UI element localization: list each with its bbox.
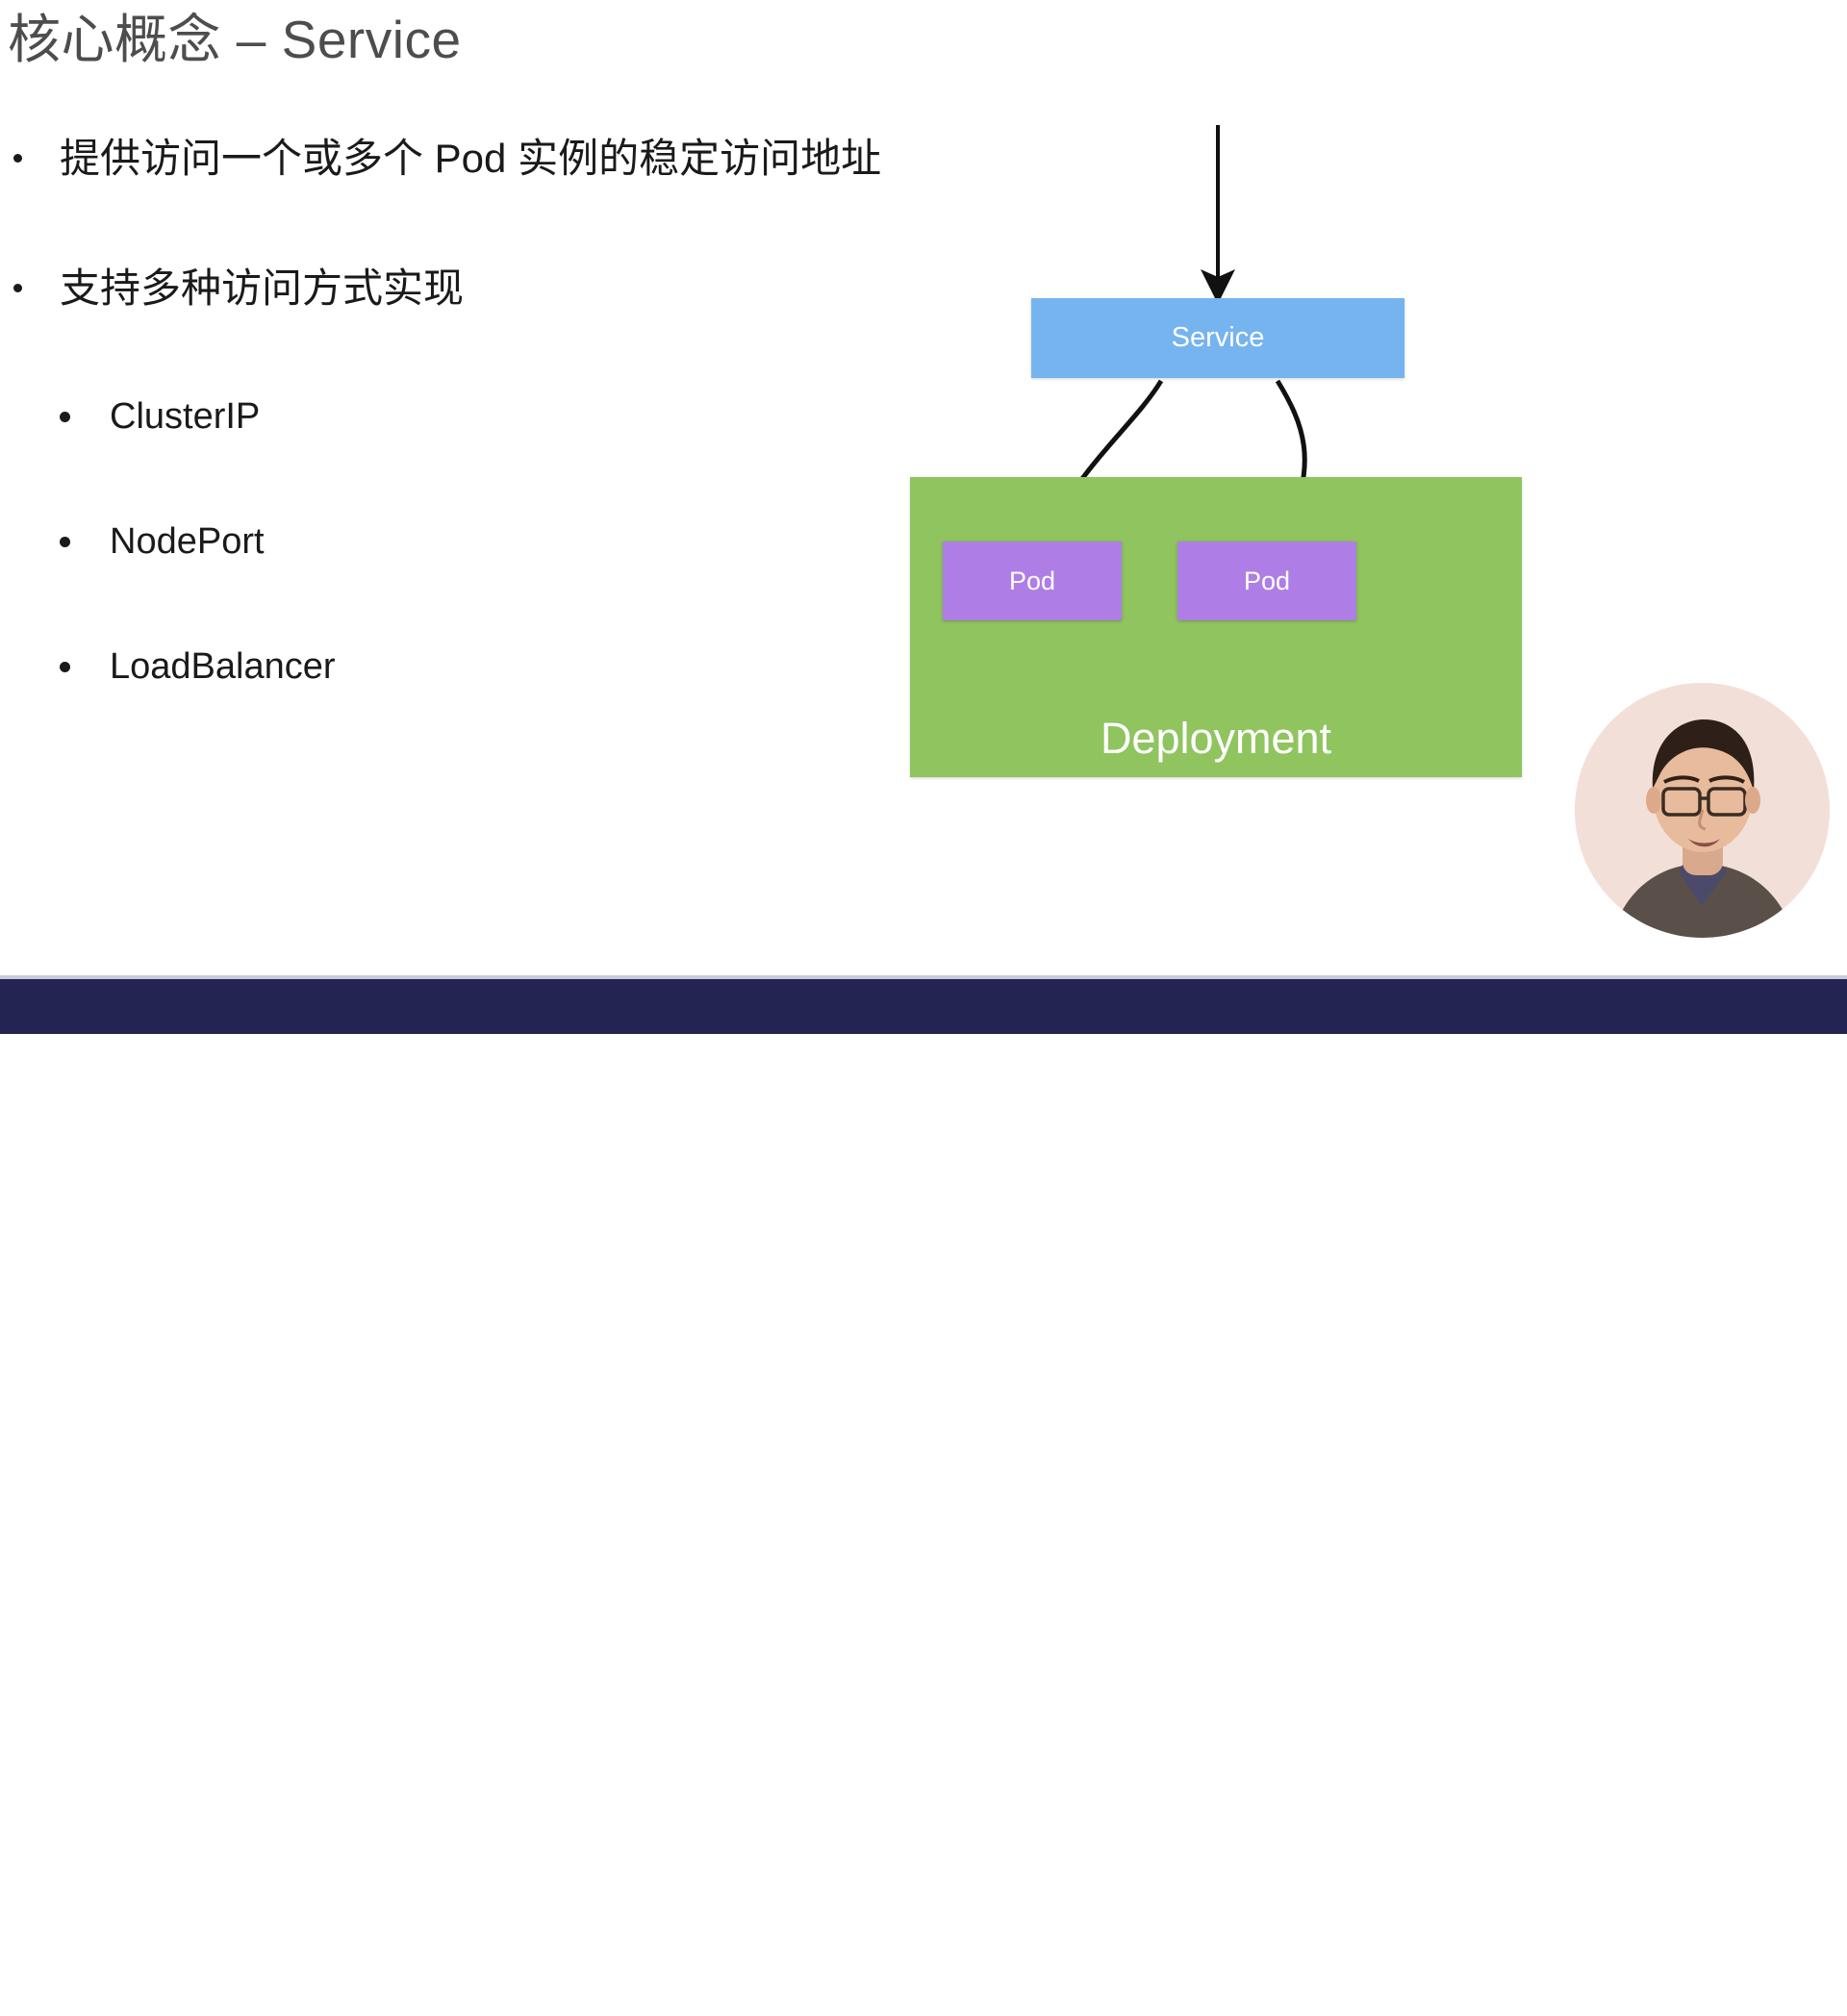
bullet-dot-icon xyxy=(60,537,70,547)
deployment-box: Pod Pod Deployment xyxy=(910,477,1522,777)
bullet-item-1: 提供访问一个或多个 Pod 实例的稳定访问地址 xyxy=(0,135,962,183)
page-title: 核心概念 – Service xyxy=(8,8,462,71)
bullet-item-clusterip-label: ClusterIP xyxy=(110,396,260,437)
bullet-item-nodeport-label: NodePort xyxy=(110,521,265,562)
aliyun-logo: 阿里云 xyxy=(1407,1966,1563,1999)
bullet-dot-icon xyxy=(13,284,22,292)
pod-box-right-label: Pod xyxy=(1244,567,1290,596)
bullet-dot-icon xyxy=(60,662,70,672)
service-box-label: Service xyxy=(1172,322,1265,354)
cncf-logo-line1: CLOUD NATIVE xyxy=(1676,1966,1847,1987)
bullet-item-2: 支持多种访问方式实现 xyxy=(0,265,962,313)
bullet-dot-icon xyxy=(13,154,22,163)
bullet-item-2-label: 支持多种访问方式实现 xyxy=(60,265,464,311)
deployment-box-label: Deployment xyxy=(910,714,1522,764)
service-box: Service xyxy=(1031,298,1404,378)
bullet-list: 提供访问一个或多个 Pod 实例的稳定访问地址 支持多种访问方式实现 Clust… xyxy=(0,135,962,769)
cncf-logo-line2: COMPUTING FOUNDATION xyxy=(1676,1989,1847,2015)
presenter-avatar xyxy=(1575,683,1830,938)
cncf-logo-text: CLOUD NATIVE COMPUTING FOUNDATION xyxy=(1676,1966,1847,2015)
pod-box-right: Pod xyxy=(1177,542,1356,620)
presenter-webcam-overlay xyxy=(1575,683,1830,938)
pod-box-left: Pod xyxy=(943,542,1122,620)
cncf-logo: CLOUD NATIVE COMPUTING FOUNDATION xyxy=(1632,1966,1847,2015)
presentation-slide: 核心概念 – Service 提供访问一个或多个 Pod 实例的稳定访问地址 支… xyxy=(0,0,1847,1034)
pod-box-left-label: Pod xyxy=(1009,567,1055,596)
bullet-item-1-label: 提供访问一个或多个 Pod 实例的稳定访问地址 xyxy=(60,136,881,181)
service-architecture-diagram: Service Pod Pod Deployment xyxy=(895,125,1558,798)
bullet-dot-icon xyxy=(60,412,70,422)
bullet-item-nodeport: NodePort xyxy=(0,519,962,564)
cncf-mark-icon xyxy=(1632,1974,1667,2008)
aliyun-logo-label: 阿里云 xyxy=(1471,1966,1563,1999)
aliyun-mark-icon xyxy=(1407,1966,1461,1999)
bullet-item-loadbalancer-label: LoadBalancer xyxy=(110,646,336,687)
bullet-item-clusterip: ClusterIP xyxy=(0,394,962,439)
bullet-item-loadbalancer: LoadBalancer xyxy=(0,644,962,689)
footer-bar: 阿里云 CLOUD NATIVE COMPUTING FOUNDATION xyxy=(0,979,1847,1034)
